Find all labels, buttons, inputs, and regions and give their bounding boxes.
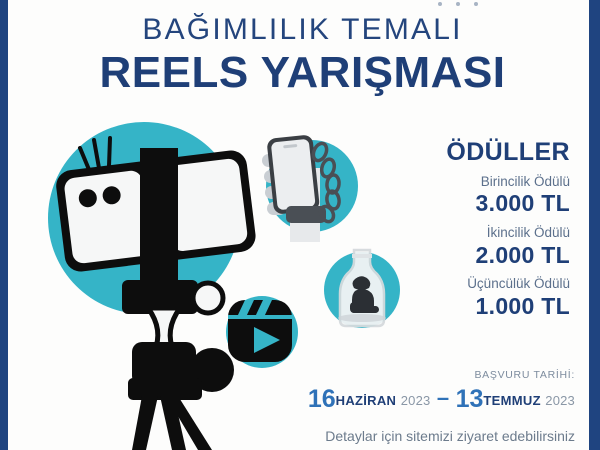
hand-holding-phone-with-chain-illustration <box>254 124 366 249</box>
application-date-label: BAŞVURU TARİHİ: <box>250 369 575 382</box>
application-date-block: BAŞVURU TARİHİ: 16HAZİRAN 2023 – 13TEMMU… <box>250 369 575 412</box>
dot-icon <box>456 2 460 6</box>
prize-label: Birincilik Ödülü <box>380 174 570 191</box>
prize-label: Üçüncülük Ödülü <box>380 276 570 293</box>
end-month: TEMMUZ <box>483 393 540 408</box>
poster-title: REELS YARIŞMASI <box>30 50 575 96</box>
start-day: 16 <box>308 385 336 413</box>
start-year: 2023 <box>401 393 431 408</box>
prizes-heading: ÖDÜLLER <box>380 139 570 167</box>
prize-label: İkincilik Ödülü <box>380 225 570 242</box>
start-month: HAZİRAN <box>336 393 397 408</box>
title-block: BAĞIMLILIK TEMALI REELS YARIŞMASI <box>30 14 575 96</box>
right-border-bar <box>589 0 600 450</box>
end-day: 13 <box>456 385 484 413</box>
date-separator: – <box>435 385 451 410</box>
top-dots-decoration <box>434 2 494 10</box>
prize-amount: 3.000 TL <box>380 190 570 218</box>
dot-icon <box>474 2 478 6</box>
application-date-range: 16HAZİRAN 2023 – 13TEMMUZ 2023 <box>250 387 575 412</box>
prize-amount: 2.000 TL <box>380 242 570 270</box>
prizes-section: ÖDÜLLER Birincilik Ödülü 3.000 TL İkinci… <box>380 139 570 321</box>
prize-item-third: Üçüncülük Ödülü 1.000 TL <box>380 276 570 320</box>
footer-note: Detaylar için sitemizi ziyaret edebilirs… <box>250 428 575 444</box>
left-border-bar <box>0 0 8 450</box>
end-year: 2023 <box>545 393 575 408</box>
prize-item-second: İkincilik Ödülü 2.000 TL <box>380 225 570 269</box>
poster-canvas: BAĞIMLILIK TEMALI REELS YARIŞMASI <box>0 0 600 450</box>
reels-icon <box>228 300 292 362</box>
prize-amount: 1.000 TL <box>380 293 570 321</box>
poster-subtitle: BAĞIMLILIK TEMALI <box>30 14 575 46</box>
prize-item-first: Birincilik Ödülü 3.000 TL <box>380 174 570 218</box>
dot-icon <box>438 2 442 6</box>
